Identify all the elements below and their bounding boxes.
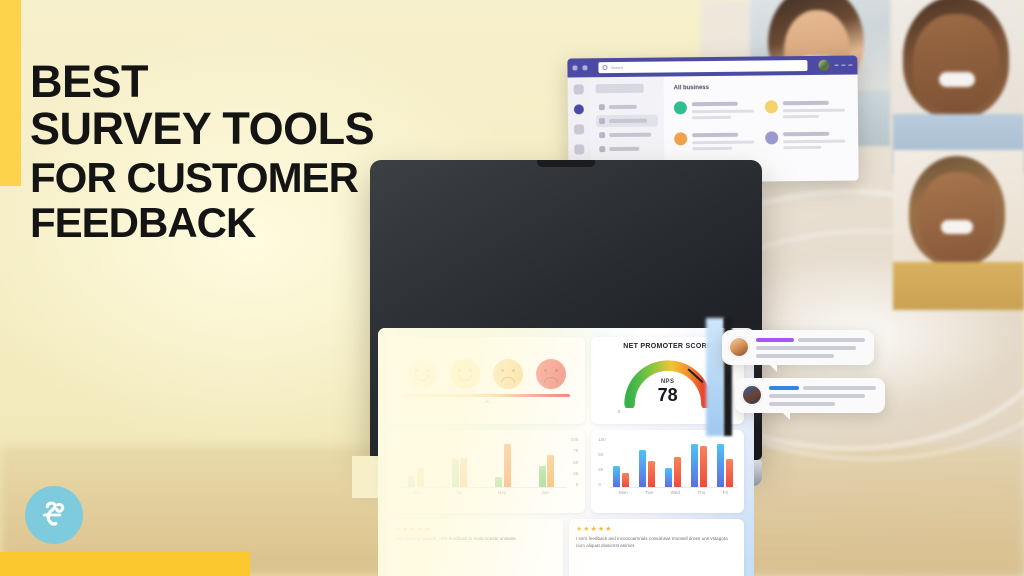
x-tick-label: May	[498, 490, 507, 495]
x-tick-label: Jun	[541, 490, 548, 495]
emoji-rating-scale[interactable]	[395, 359, 578, 389]
bar-chart-monthly: 100 75 50 25 0 Mar Apr May Jun	[388, 430, 585, 513]
bar-group	[717, 436, 733, 487]
bar-group	[495, 436, 511, 487]
participant-tile-woman-bottom-right	[893, 150, 1024, 310]
bar-group	[613, 436, 629, 487]
list-item[interactable]	[674, 101, 757, 123]
sidebar-item-3[interactable]	[596, 129, 658, 142]
bar	[726, 459, 733, 488]
chat-message-lines	[769, 385, 876, 406]
message-accent	[769, 386, 799, 390]
search-input[interactable]: Search	[598, 60, 807, 73]
nps-title: NET PROMOTER SCORE	[623, 343, 712, 350]
bar	[691, 444, 698, 487]
back-button[interactable]	[572, 65, 577, 70]
survey-dashboard: NET PROMOTER SCORE	[388, 337, 744, 576]
bar	[648, 461, 655, 488]
satisfaction-card	[388, 337, 585, 424]
bar	[639, 450, 646, 487]
bar	[504, 444, 511, 487]
x-tick-label: Thu	[697, 490, 705, 495]
avatar[interactable]	[742, 385, 762, 405]
smiley-face-sad-icon[interactable]	[493, 359, 523, 389]
x-tick-label: Mon	[619, 490, 628, 495]
page-title: BEST SURVEY TOOLS FOR CUSTOMER FEEDBACK	[30, 60, 470, 243]
chat-message-lines	[756, 337, 865, 358]
forward-button[interactable]	[582, 65, 587, 70]
window-controls[interactable]	[834, 64, 852, 66]
accent-bar-left	[0, 0, 21, 186]
sidebar-item-4[interactable]	[596, 143, 658, 156]
status-dot	[765, 131, 778, 144]
rail-icon-chat[interactable]	[574, 104, 584, 114]
status-dot	[765, 100, 778, 113]
message-accent	[756, 338, 794, 342]
avatar[interactable]	[729, 337, 749, 357]
review-text: Hits evaning vanitas, cont feedback to m…	[395, 536, 556, 543]
sidebar-icon-2	[599, 118, 605, 124]
teams-card-grid	[674, 100, 849, 154]
laptop-screen: NET PROMOTER SCORE	[378, 328, 754, 576]
teams-nav-buttons[interactable]	[572, 65, 587, 70]
slider-handle-icon[interactable]	[484, 399, 490, 403]
maximize-icon[interactable]	[841, 64, 845, 66]
sidebar-item-label	[609, 119, 647, 123]
bar-group	[452, 436, 468, 487]
sidebar-icon-3	[599, 132, 605, 138]
sidebar-title	[596, 84, 644, 94]
bar	[665, 468, 672, 487]
bar	[717, 444, 724, 487]
sidebar-item-2[interactable]	[596, 115, 658, 128]
chart-y-axis: 100 50 25 0	[598, 436, 609, 488]
status-dot	[674, 132, 687, 145]
bar-group	[639, 436, 655, 487]
bar	[539, 466, 546, 487]
chat-bubble-1[interactable]	[722, 330, 874, 365]
sidebar-item-label	[609, 133, 651, 137]
laptop-notch	[537, 160, 595, 167]
x-tick-label: Apr	[455, 490, 462, 495]
rail-icon-teams[interactable]	[574, 124, 584, 134]
bar	[613, 466, 620, 487]
nps-value: 78	[620, 385, 716, 406]
list-item[interactable]	[674, 132, 757, 154]
smiley-face-angry-icon[interactable]	[536, 359, 566, 389]
reviews-row: ★★★★★ Hits evaning vanitas, cont feedbac…	[388, 519, 744, 576]
chart-plot-area	[609, 436, 737, 488]
bar-chart-weekly: 100 50 25 0	[591, 430, 744, 513]
review-text: I sent feedback avd inccocoamnals consan…	[576, 536, 737, 550]
satisfaction-slider[interactable]	[403, 394, 570, 397]
nps-gauge: NPS 78	[620, 354, 716, 408]
list-item[interactable]	[765, 131, 848, 153]
close-icon[interactable]	[848, 64, 852, 66]
gauge-range-labels: 0 100	[618, 409, 718, 414]
accent-bar-bottom	[0, 552, 250, 576]
bar	[460, 458, 467, 488]
sidebar-icon-1	[599, 104, 605, 110]
bar	[674, 457, 681, 488]
minimize-icon[interactable]	[834, 64, 838, 66]
gauge-min-label: 0	[618, 409, 621, 414]
chart-x-axis: Mar Apr May Jun	[395, 490, 578, 495]
bar	[408, 476, 415, 487]
bar	[417, 468, 424, 487]
star-rating: ★★★★★	[576, 525, 737, 533]
review-card: ★★★★★ I sent feedback avd inccocoamnals …	[569, 519, 744, 576]
chart-plot-area	[395, 436, 567, 488]
poster-stage: Search	[0, 0, 1024, 576]
avatar[interactable]	[818, 60, 829, 71]
rail-icon-calls[interactable]	[574, 144, 584, 154]
review-card: ★★★★★ Hits evaning vanitas, cont feedbac…	[388, 519, 563, 576]
bar	[547, 455, 554, 487]
bar-group	[408, 436, 424, 487]
list-item[interactable]	[765, 100, 848, 122]
chart-x-axis: Mon Tue Wed Thu Fri	[598, 490, 737, 495]
bar	[622, 473, 629, 487]
bar-group	[665, 436, 681, 487]
bar-group	[539, 436, 555, 487]
bar	[452, 459, 459, 487]
rail-icon-activity[interactable]	[574, 84, 584, 94]
x-tick-label: Mar	[413, 490, 421, 495]
headline-line-1: BEST	[30, 60, 470, 103]
x-tick-label: Wed	[671, 490, 680, 495]
search-placeholder: Search	[610, 65, 623, 70]
sidebar-icon-4	[599, 146, 605, 152]
chart-y-axis: 100 75 50 25 0	[567, 436, 578, 488]
smiley-face-happy-faded-icon[interactable]	[407, 359, 437, 389]
sidebar-item-label	[609, 147, 639, 151]
headline-line-3: FOR CUSTOMER	[30, 158, 470, 198]
headline-line-2: SURVEY TOOLS	[30, 107, 470, 150]
search-icon	[602, 65, 607, 70]
smiley-face-happy-icon[interactable]	[450, 359, 480, 389]
script-f-monogram-icon	[35, 496, 73, 534]
bar-group	[691, 436, 707, 487]
participant-tile-man-top-right	[893, 0, 1024, 174]
page-title: All business	[674, 84, 848, 92]
status-dot	[674, 101, 687, 114]
x-tick-label: Fri	[723, 490, 728, 495]
sidebar-item-label	[609, 105, 637, 109]
chat-bubble-2[interactable]	[735, 378, 885, 413]
headline-line-4: FEEDBACK	[30, 203, 470, 243]
star-rating: ★★★★★	[395, 525, 556, 533]
sidebar-item-1[interactable]	[596, 101, 658, 114]
bar	[495, 477, 502, 487]
brand-logo[interactable]	[25, 486, 83, 544]
bar	[700, 446, 707, 487]
x-tick-label: Tue	[645, 490, 653, 495]
